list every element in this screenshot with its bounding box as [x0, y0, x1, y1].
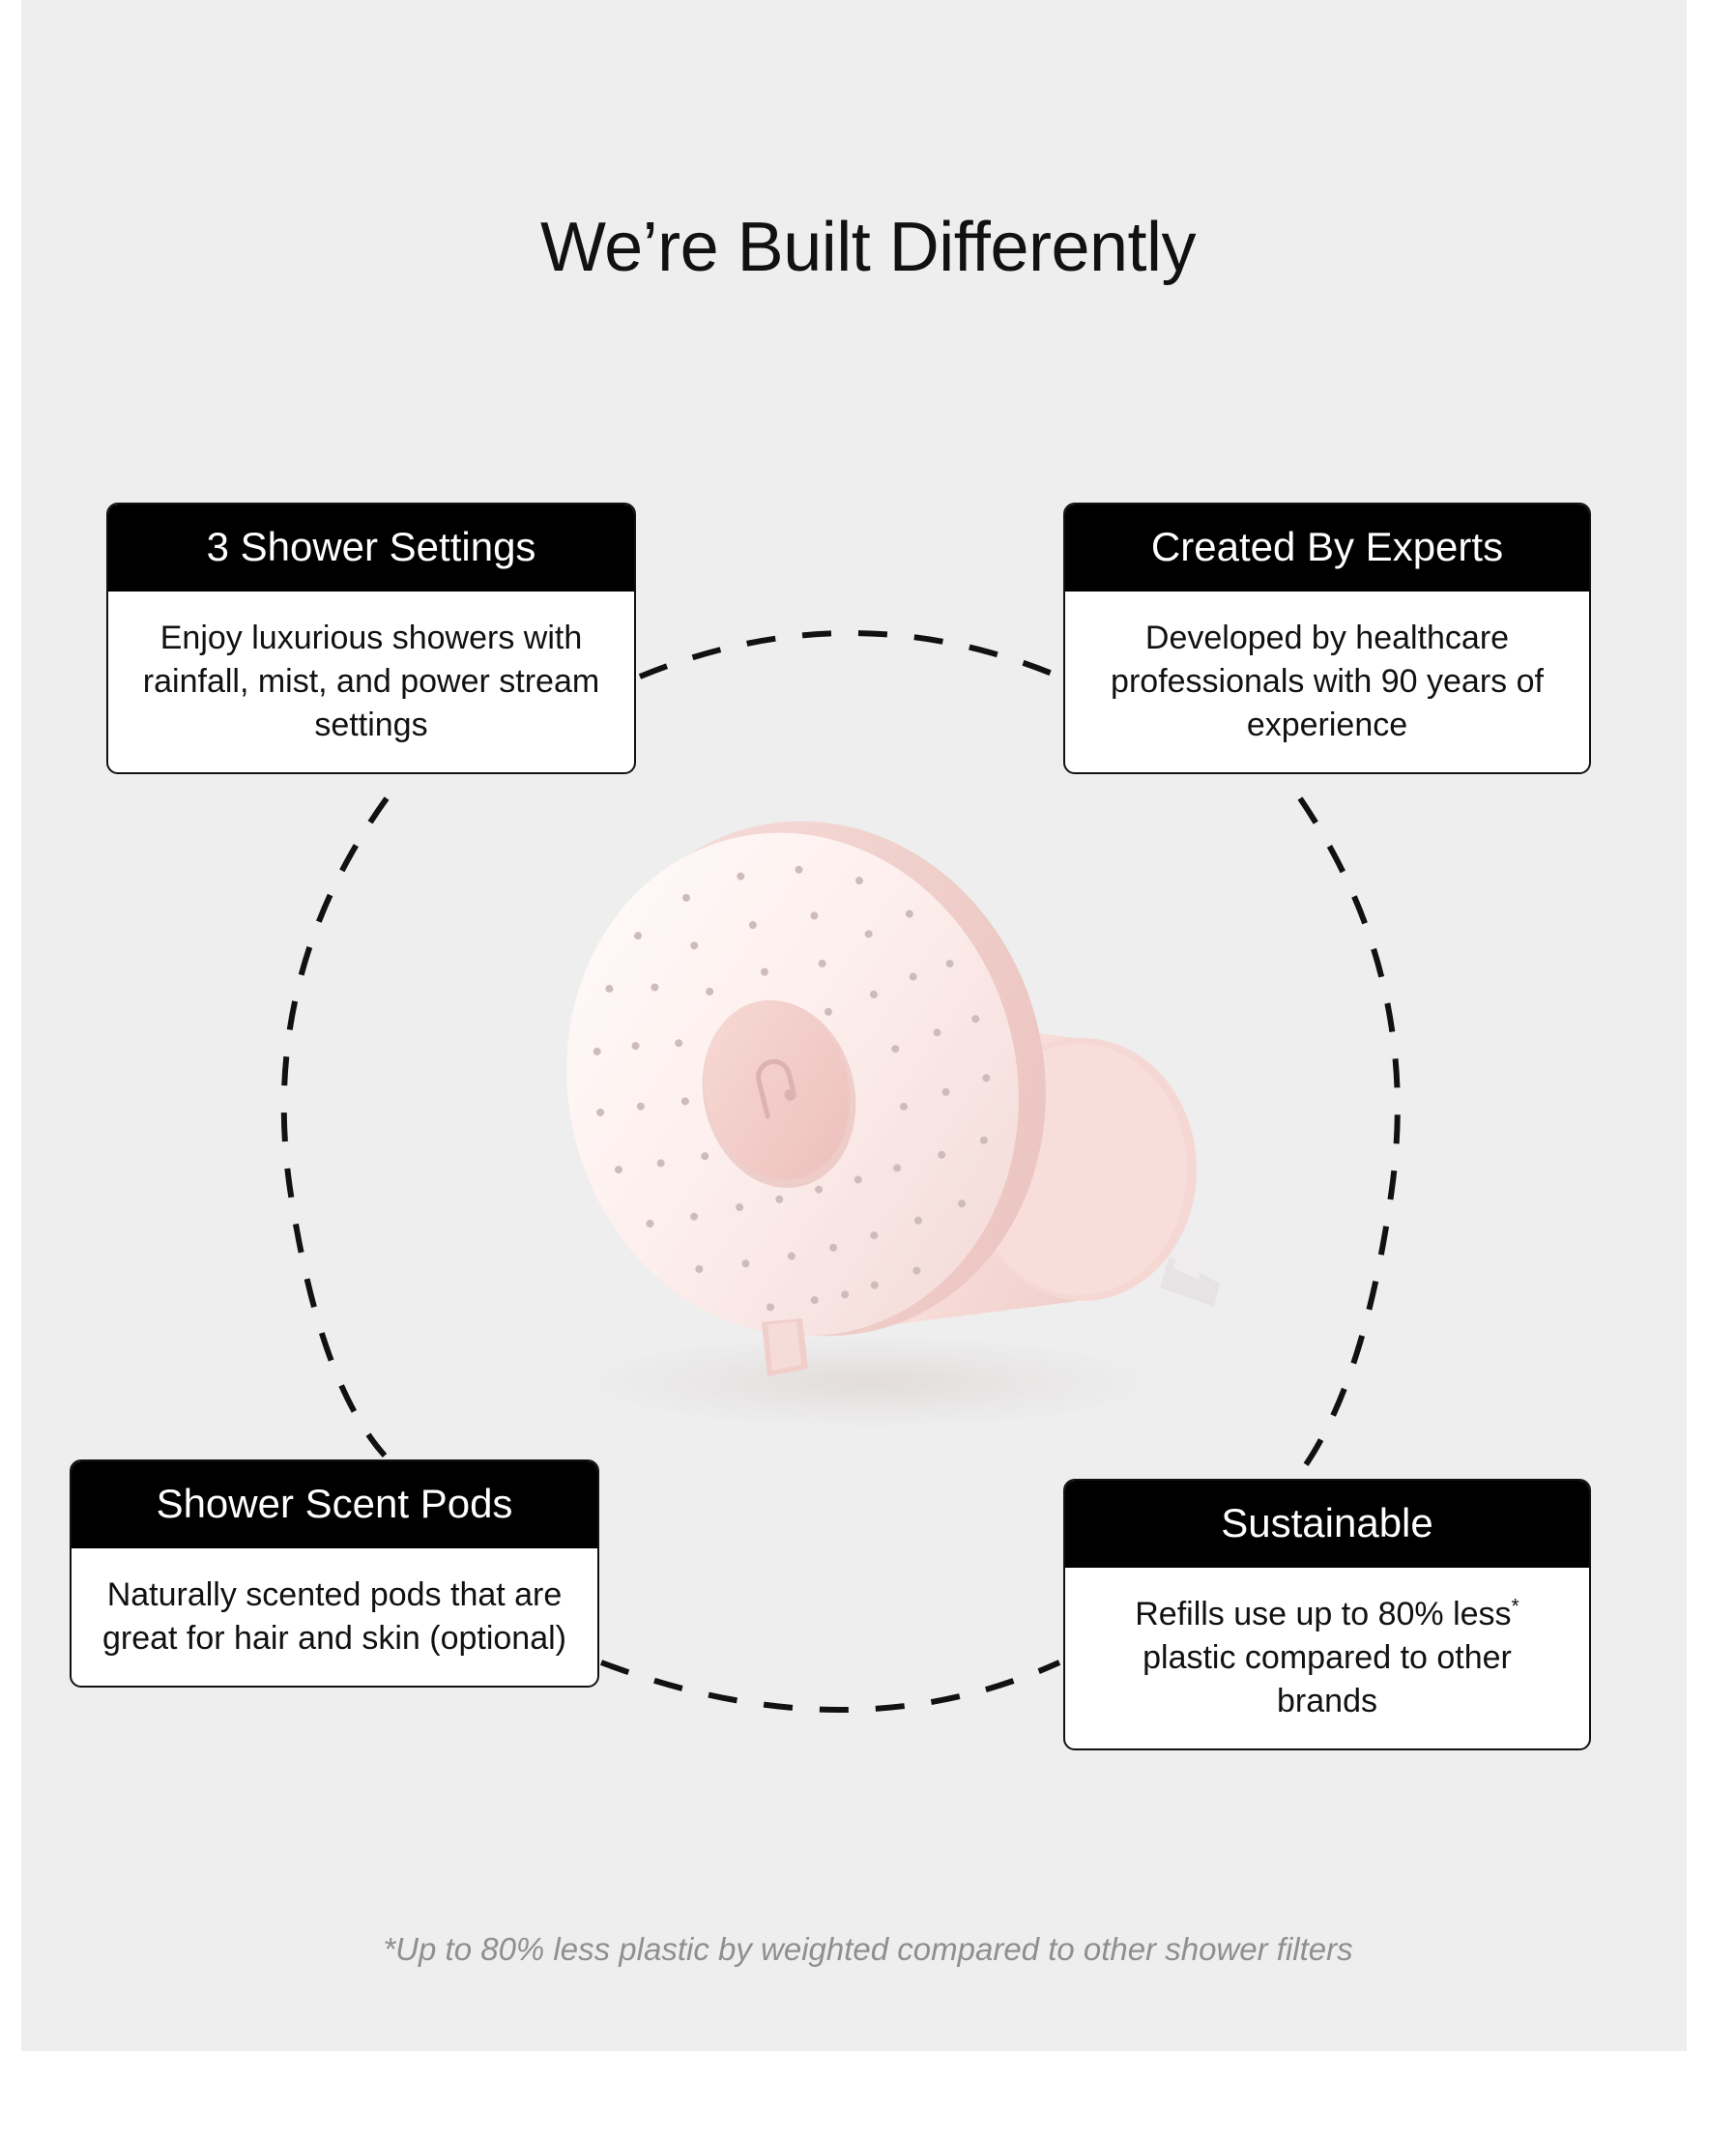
- feature-card-body-part-1: Refills use up to 80% less: [1135, 1596, 1511, 1632]
- feature-card-body-part-2: plastic compared to other brands: [1143, 1639, 1512, 1719]
- footnote-text: *Up to 80% less plastic by weighted comp…: [0, 1933, 1736, 1965]
- page-title: We’re Built Differently: [0, 213, 1736, 282]
- feature-card-sustainable[interactable]: Sustainable Refills use up to 80% less* …: [1063, 1479, 1591, 1750]
- bottom-stub: [762, 1318, 808, 1376]
- feature-card-body: Developed by healthcare professionals wi…: [1065, 592, 1589, 772]
- feature-card-body: Naturally scented pods that are great fo…: [72, 1548, 597, 1686]
- feature-card-title: Shower Scent Pods: [72, 1461, 597, 1548]
- feature-card-title: Created By Experts: [1065, 505, 1589, 592]
- product-shadow: [580, 1336, 1160, 1429]
- product-image-shower-head: [503, 715, 1257, 1469]
- feature-card-scent-pods[interactable]: Shower Scent Pods Naturally scented pods…: [70, 1459, 599, 1688]
- feature-card-created-experts[interactable]: Created By Experts Developed by healthca…: [1063, 503, 1591, 774]
- feature-card-body: Refills use up to 80% less* plastic comp…: [1065, 1568, 1589, 1748]
- footnote-marker: *: [1512, 1596, 1519, 1618]
- infographic-page: We’re Built Differently: [0, 0, 1736, 2137]
- feature-card-title: 3 Shower Settings: [108, 505, 634, 592]
- feature-card-body: Enjoy luxurious showers with rainfall, m…: [108, 592, 634, 772]
- feature-card-shower-settings[interactable]: 3 Shower Settings Enjoy luxurious shower…: [106, 503, 636, 774]
- feature-card-title: Sustainable: [1065, 1481, 1589, 1568]
